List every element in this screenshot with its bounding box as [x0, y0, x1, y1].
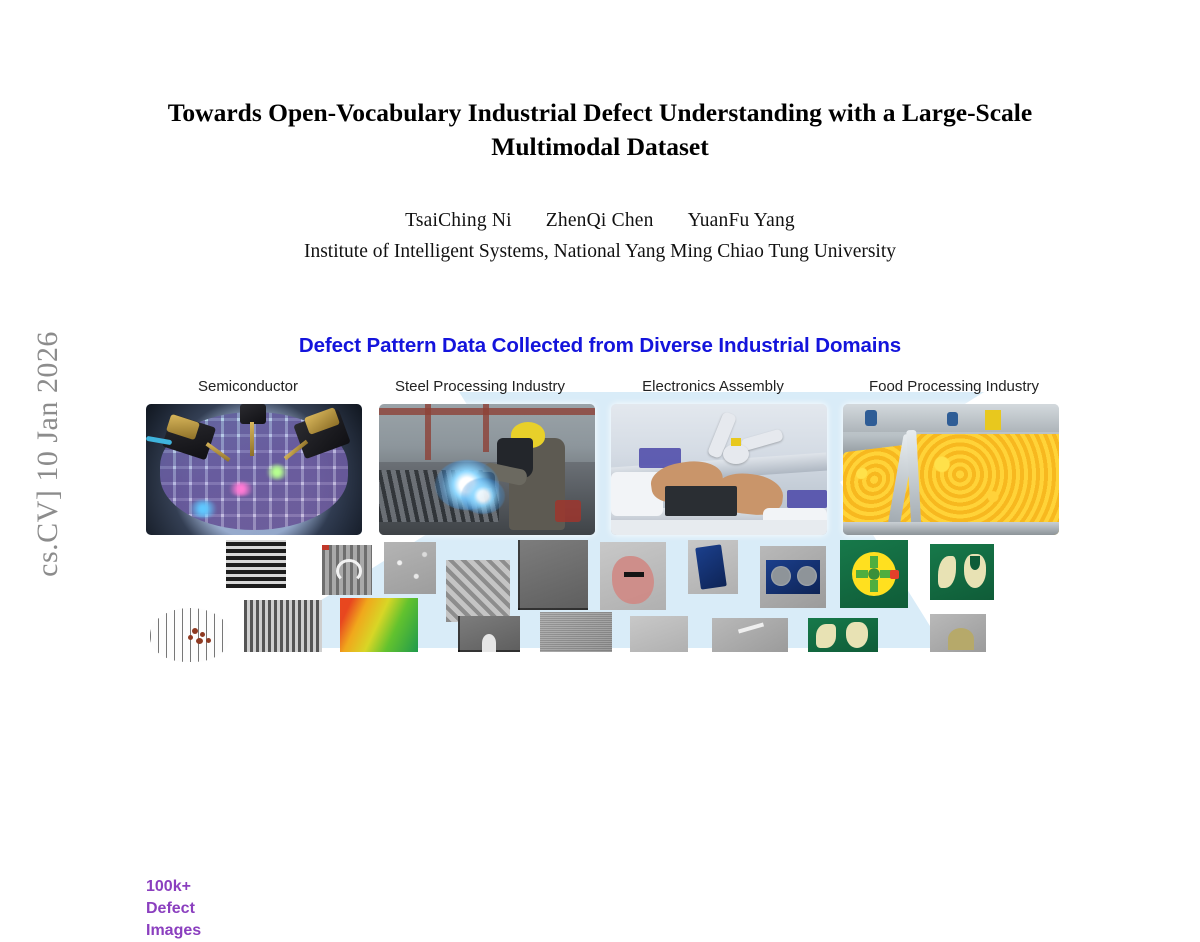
author-name: ZhenQi Chen [546, 210, 654, 232]
semiconductor-wafer-probe-photo [146, 404, 362, 535]
scratch-defect-thumb [322, 545, 372, 595]
stripe-pattern-defect-thumb [446, 560, 510, 622]
author-block: TsaiChing Ni ZhenQi Chen YuanFu Yang Ins… [0, 164, 1200, 263]
author-name: TsaiChing Ni [405, 210, 512, 232]
noise-texture-thumb [540, 612, 612, 652]
particle-contamination-thumb [384, 542, 436, 594]
bottom-metal-thumb [930, 614, 986, 652]
caption-line-defect: Defect [146, 898, 232, 920]
wafer-colormap-thumb [340, 598, 418, 652]
die-array-thumb [244, 600, 322, 652]
teaser-figure: Defect Pattern Data Collected from Diver… [0, 334, 1200, 648]
author-name: YuanFu Yang [688, 210, 795, 232]
pcb-trace-defect-thumb [226, 540, 286, 588]
defect-thumbnail-grid [140, 540, 1070, 648]
defect-count-caption: 100k+ Defect Images [146, 876, 232, 942]
affiliation: Institute of Intelligent Systems, Nation… [0, 241, 1200, 263]
wafer-map-defect-thumb [150, 608, 230, 662]
electronics-assembly-photo [611, 404, 827, 535]
author-list: TsaiChing Ni ZhenQi Chen YuanFu Yang [0, 210, 1200, 232]
caption-line-count: 100k+ [146, 876, 232, 898]
grain-boundary-defect-thumb [518, 540, 588, 610]
page-title: Towards Open-Vocabulary Industrial Defec… [0, 0, 1200, 164]
green-food-strip-thumb [808, 618, 878, 652]
sliced-fruit-defect-thumb [930, 544, 994, 600]
steel-welding-photo [379, 404, 595, 535]
yellow-gear-defect-thumb [840, 540, 908, 608]
ultrasonic-sensor-thumb [760, 546, 826, 608]
food-conveyor-photo [843, 404, 1059, 535]
dark-particle-thumb [458, 616, 520, 652]
bottom-metal-thumb [712, 618, 788, 652]
metal-surface-thumb [630, 616, 688, 652]
steel-surface-anomaly-thumb [600, 542, 666, 610]
caption-line-images: Images [146, 920, 232, 942]
arduino-board-thumb [688, 540, 738, 594]
paper-header: Towards Open-Vocabulary Industrial Defec… [0, 0, 1200, 263]
